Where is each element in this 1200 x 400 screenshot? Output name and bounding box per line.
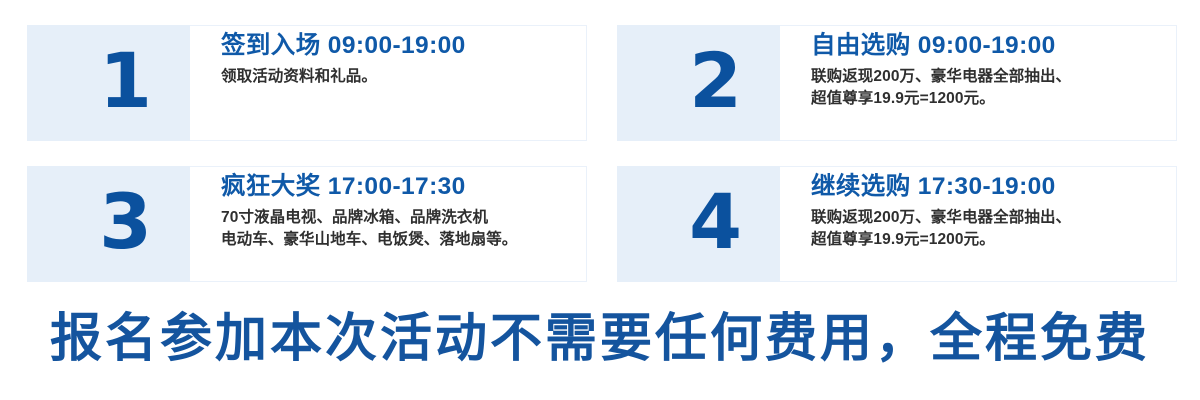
step-body-3: 疯狂大奖 17:00-17:30 70寸液晶电视、品牌冰箱、品牌洗衣机 电动车、… [190,166,587,282]
step-desc-line: 联购返现200万、豪华电器全部抽出、 [811,66,1176,88]
step-body-1: 签到入场 09:00-19:00 领取活动资料和礼品。 [190,25,587,141]
step-title-3: 疯狂大奖 17:00-17:30 [221,173,586,202]
step-number-block-3: 3 [27,166,190,282]
step-desc-line: 联购返现200万、豪华电器全部抽出、 [811,207,1176,229]
footer-banner-text: 报名参加本次活动不需要任何费用，全程免费 [50,309,1150,370]
step-desc-line: 超值尊享19.9元=1200元。 [811,88,1176,110]
step-desc-line: 超值尊享19.9元=1200元。 [811,229,1176,251]
step-number-block-2: 2 [617,25,780,141]
step-card-1: 1 签到入场 09:00-19:00 领取活动资料和礼品。 [27,25,587,141]
step-desc-line: 电动车、豪华山地车、电饭煲、落地扇等。 [221,229,586,251]
step-body-2: 自由选购 09:00-19:00 联购返现200万、豪华电器全部抽出、 超值尊享… [780,25,1177,141]
step-desc-3: 70寸液晶电视、品牌冰箱、品牌洗衣机 电动车、豪华山地车、电饭煲、落地扇等。 [221,207,586,252]
step-number-1: 1 [99,43,151,119]
footer-banner: 报名参加本次活动不需要任何费用，全程免费 [0,309,1200,370]
step-body-4: 继续选购 17:30-19:00 联购返现200万、豪华电器全部抽出、 超值尊享… [780,166,1177,282]
step-number-2: 2 [689,43,741,119]
step-number-3: 3 [99,184,151,260]
step-number-block-4: 4 [617,166,780,282]
step-desc-line: 领取活动资料和礼品。 [221,66,586,88]
step-desc-1: 领取活动资料和礼品。 [221,66,586,88]
step-card-3: 3 疯狂大奖 17:00-17:30 70寸液晶电视、品牌冰箱、品牌洗衣机 电动… [27,166,587,282]
step-title-4: 继续选购 17:30-19:00 [811,173,1176,202]
step-number-4: 4 [689,184,741,260]
step-number-block-1: 1 [27,25,190,141]
step-title-2: 自由选购 09:00-19:00 [811,32,1176,61]
step-desc-line: 70寸液晶电视、品牌冰箱、品牌洗衣机 [221,207,586,229]
step-desc-2: 联购返现200万、豪华电器全部抽出、 超值尊享19.9元=1200元。 [811,66,1176,111]
schedule-steps-grid: 1 签到入场 09:00-19:00 领取活动资料和礼品。 2 自由选购 09:… [27,25,1177,282]
step-desc-4: 联购返现200万、豪华电器全部抽出、 超值尊享19.9元=1200元。 [811,207,1176,252]
step-card-2: 2 自由选购 09:00-19:00 联购返现200万、豪华电器全部抽出、 超值… [617,25,1177,141]
step-card-4: 4 继续选购 17:30-19:00 联购返现200万、豪华电器全部抽出、 超值… [617,166,1177,282]
step-title-1: 签到入场 09:00-19:00 [221,32,586,61]
